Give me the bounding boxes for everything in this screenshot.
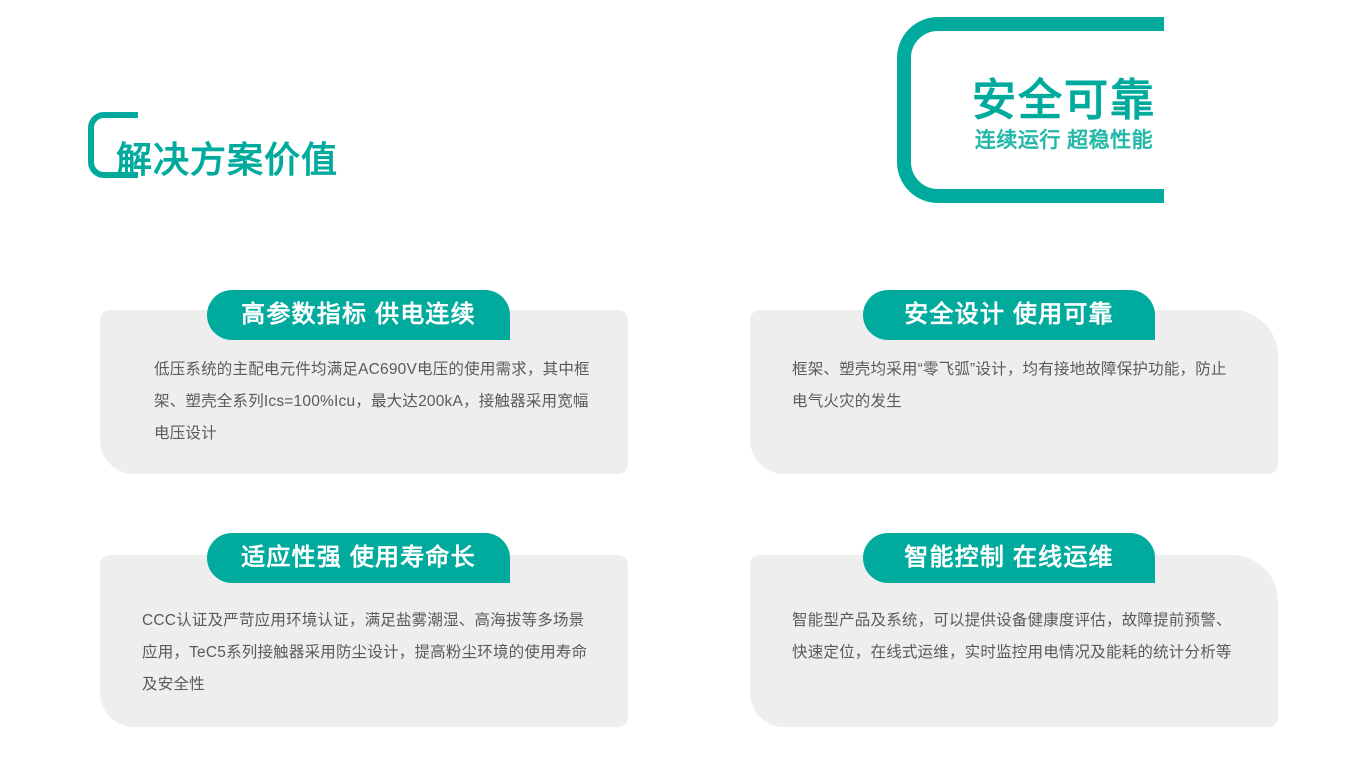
card-body-text: 低压系统的主配电元件均满足AC690V电压的使用需求，其中框架、塑壳全系列Ics…	[154, 354, 592, 450]
card-body-text: 框架、塑壳均采用“零飞弧”设计，均有接地故障保护功能，防止电气火灾的发生	[792, 354, 1242, 418]
page-title: 解决方案价值	[116, 142, 338, 178]
card-title-smart-control: 智能控制 在线运维	[863, 533, 1155, 583]
card-title-high-parameter: 高参数指标 供电连续	[207, 290, 510, 340]
page-heading: 解决方案价值	[88, 112, 338, 192]
logo-text-group: 安全可靠 连续运行 超稳性能	[944, 78, 1184, 154]
card-title-safe-design: 安全设计 使用可靠	[863, 290, 1155, 340]
logo-sub-text: 连续运行 超稳性能	[944, 128, 1184, 154]
logo-badge: 安全可靠 连续运行 超稳性能	[896, 16, 1188, 204]
logo-main-text: 安全可靠	[944, 78, 1184, 125]
card-body-text: CCC认证及严苛应用环境认证，满足盐雾潮湿、高海拔等多场景应用，TeC5系列接触…	[142, 605, 592, 701]
card-body-text: 智能型产品及系统，可以提供设备健康度评估，故障提前预警、快速定位，在线式运维，实…	[792, 605, 1242, 669]
card-title-adaptability: 适应性强 使用寿命长	[207, 533, 510, 583]
